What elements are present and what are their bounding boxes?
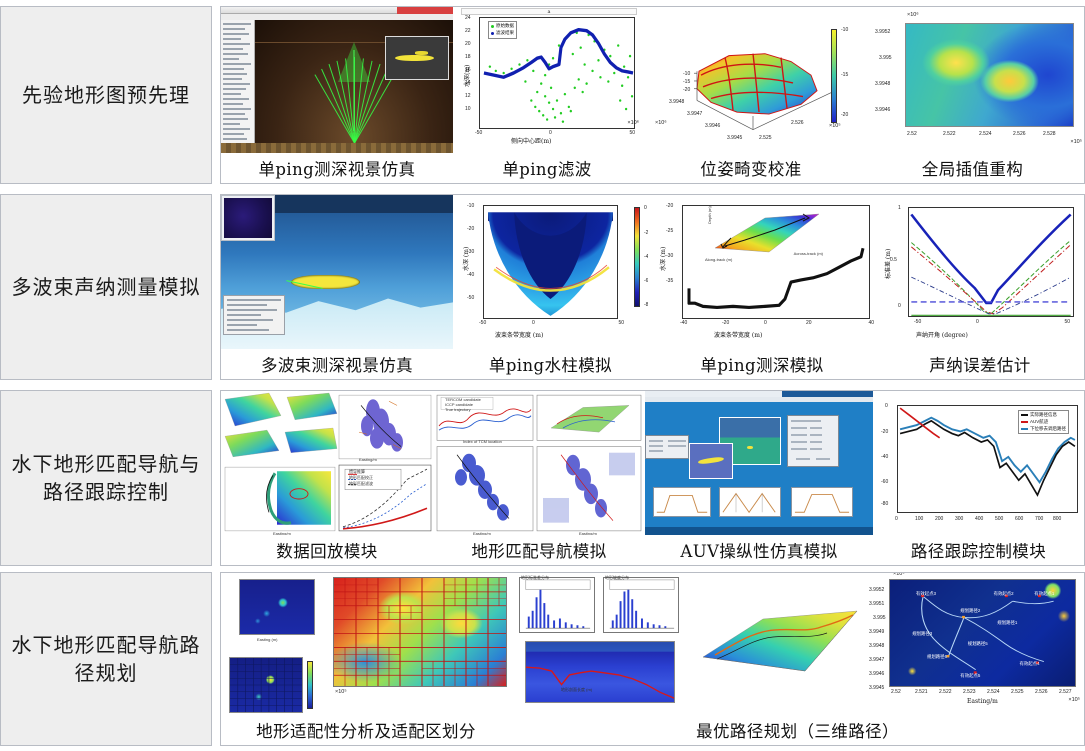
ytick: 3.9948 [875, 81, 890, 87]
plot-axes [908, 207, 1074, 317]
ytick: 10 [465, 106, 471, 112]
plot-axes: 原始数据 滤波结果 [479, 17, 635, 129]
legend-swatch-actual [1021, 414, 1028, 416]
sonarerror-plot: 1 0.5 0 -50 0 50 标准差 (m) 声纳开角 (degree) [876, 195, 1084, 349]
xtick: 200 [935, 516, 943, 522]
grid-colorbar [307, 661, 313, 709]
filter-legend: 原始数据 滤波结果 [488, 21, 517, 39]
ytick: -20 [666, 203, 673, 209]
pathplan-composite: 地形标准差分布 地形坡度分布 地形剖面长度 (m) [511, 573, 1084, 715]
x-exponent: ×10⁵ [1070, 139, 1082, 145]
terrain-profile-section [525, 641, 675, 703]
wp-ytick: 3.9947 [869, 657, 884, 663]
auv-body [395, 55, 435, 61]
panel-strip: -10 -20 -30 -40 -50 -50 0 50 水深 (m) 波束条带… [221, 195, 1084, 349]
caption-data-replay: 数据回放模块 [221, 538, 433, 562]
x-axis-label: 侧向中心距(m) [511, 136, 551, 145]
xtick: 20 [806, 320, 812, 326]
watercolumn-colorbar: 0 -20 -40 -60 -80 [634, 207, 640, 307]
xtick: 0 [764, 320, 767, 326]
profile-xlabel: 地形剖面长度 (m) [561, 687, 592, 693]
row-prior-terrain: 先验地形图预先理 [0, 6, 1085, 184]
xtick: 50 [618, 320, 624, 326]
auv-fin [415, 51, 429, 54]
x-axis-label: 声纳开角 (degree) [916, 330, 968, 339]
suitability-map-small [239, 579, 315, 635]
row-path-planning: 水下地形匹配导航路径规划 Easting (m) [0, 572, 1085, 746]
panel-auv-maneuver-sim[interactable] [645, 391, 873, 535]
inset-zlabel: Depth (m) [707, 206, 712, 224]
cbar-tick: -10 [841, 27, 848, 33]
xtick: 40 [868, 320, 874, 326]
cbar-tick: 0 [644, 205, 647, 211]
xtick: 2.52 [907, 131, 917, 137]
auv-inset-view[interactable] [385, 36, 449, 80]
wpmap-xlabel: Easting/m [967, 698, 998, 705]
bar-chart-std [519, 577, 595, 633]
bathymetry-thumbnail-panel[interactable] [221, 195, 275, 241]
caption-water-column: 单ping水柱模拟 [453, 352, 648, 376]
legend-swatch-filtered [491, 32, 494, 35]
ytick: 1 [898, 205, 901, 211]
row-content-matching-nav: Easting/m Easting/m 惯导推算 地形匹配校正 地形匹配滤波 [220, 390, 1085, 566]
caption-sonar-error: 声纳误差估计 [876, 352, 1084, 376]
y-axis-label: 水深 (m) [658, 247, 667, 271]
bar-chart-slope [603, 577, 679, 633]
legend-label-auv: AUV航迹 [1030, 419, 1048, 426]
xtick: 2.522 [943, 131, 956, 137]
replay-composite: Easting/m Easting/m 惯导推算 地形匹配校正 地形匹配滤波 [221, 391, 433, 535]
segment-label-3: 规划路径3 [912, 631, 932, 637]
ytick: -35 [666, 278, 673, 284]
ytick: 24 [465, 15, 471, 21]
xtick: 3.9946 [705, 123, 720, 129]
navsim-mid-xlabel: Index of TCM location [463, 439, 502, 444]
xtick: 50 [629, 130, 635, 136]
waypoint-label-4: 有效起点4 [1020, 661, 1040, 667]
waypoint-label-3: 有效起点3 [916, 591, 936, 597]
wpmap-x-exponent: ×10⁵ [1068, 697, 1080, 703]
x-axis-label: 波束条带宽度 (m) [495, 330, 543, 339]
xtick: -20 [722, 320, 729, 326]
replay-xlabel: Easting/m [273, 531, 291, 535]
auv-body [697, 456, 724, 465]
caption-strip-row4: 地形适配性分析及适配区划分 最优路径规划（三维路径） [221, 715, 1084, 745]
panel-sonar-error[interactable]: 1 0.5 0 -50 0 50 标准差 (m) 声纳开角 (degree) [876, 195, 1084, 349]
xtick: -50 [475, 130, 482, 136]
wp-xtick: 2.523 [963, 689, 976, 695]
xtick: -50 [479, 320, 486, 326]
caption-pose-calib: 位姿畸变校准 [641, 156, 861, 180]
xtick: 2.524 [979, 131, 992, 137]
input-panel-left[interactable] [645, 435, 689, 459]
toolbar[interactable] [645, 397, 873, 402]
mosaic-x-exponent: ×10⁵ [335, 689, 347, 695]
suitability-mosaic [333, 577, 507, 687]
wp-ytick: 3.995 [873, 615, 886, 621]
bathymetry-thumbnail [224, 198, 272, 238]
panel-single-ping-scene[interactable] [221, 7, 453, 153]
suitability-composite: Easting (m) [221, 573, 511, 715]
row-label-text: 先验地形图预先理 [22, 81, 190, 109]
wp-xtick: 2.525 [1011, 689, 1024, 695]
ytick: 3.995 [879, 55, 892, 61]
segment-label-1: 规划路径1 [997, 620, 1017, 626]
ytick: -30 [666, 253, 673, 259]
panel-pose-distortion-calib[interactable]: -10 -15 -20 3.9948 3.9947 3.9946 3.9945 … [641, 7, 861, 153]
waypoint-map: 有效起点3 有效起点2 有效起点1 有效起点4 有效起点5 规划路径2 规划路径… [889, 579, 1076, 687]
y-axis-label: 标准差 (m) [883, 249, 892, 279]
xtick: 600 [1015, 516, 1023, 522]
ytick: -10 [467, 203, 474, 209]
x-exponent: ×10⁶ [627, 120, 639, 126]
signal-chart-1 [653, 487, 711, 517]
caption-global-interp: 全局插值重构 [861, 156, 1084, 180]
recording-indicator [397, 7, 453, 14]
parameter-list-panel[interactable] [221, 20, 255, 143]
xtick: -50 [914, 319, 921, 325]
panel-strip: a [221, 7, 1084, 153]
settings-dialog[interactable] [223, 295, 285, 335]
ytick: 2.525 [759, 135, 772, 141]
waypoint-label-1: 有效起点1 [1034, 591, 1054, 597]
panel-path-tracking[interactable]: 实际路径信息 AUV航迹 下位移去调后路径 0 -20 -40 -60 -80 … [873, 391, 1084, 535]
wp-xtick: 2.527 [1059, 689, 1072, 695]
navsim-svg [433, 391, 645, 535]
signal-svg-3 [792, 488, 852, 516]
xtick: 500 [995, 516, 1003, 522]
tracking-legend: 实际路径信息 AUV航迹 下位移去调后路径 [1018, 410, 1069, 434]
tracking-plot: 实际路径信息 AUV航迹 下位移去调后路径 0 -20 -40 -60 -80 … [873, 391, 1084, 535]
inset-xlabel: Across-track (m) [794, 251, 823, 256]
waypoint-label-5: 有效起点5 [960, 673, 980, 679]
y-axis-label: 水深(m) [462, 65, 471, 87]
ytick: -40 [467, 272, 474, 278]
wp-ytick: 3.9948 [869, 643, 884, 649]
legend-swatch-auv [1021, 421, 1028, 423]
caption-strip-row3: 数据回放模块 地形匹配导航模拟 AUV操纵性仿真模拟 路径跟踪控制模块 [221, 535, 1084, 565]
xtick: 700 [1035, 516, 1043, 522]
panel-suitability-analysis[interactable]: Easting (m) [221, 573, 511, 715]
wp-ytick: 3.9951 [869, 601, 884, 607]
y-axis-label: 水深 (m) [461, 247, 470, 271]
row-label-path-planning: 水下地形匹配导航路径规划 [0, 572, 212, 746]
bar-svg-slope [604, 578, 678, 632]
panel-single-ping-depth[interactable]: Along-track (m) Across-track (m) Depth (… [648, 195, 876, 349]
auv-body [291, 275, 361, 289]
caption-auv-maneuver-sim: AUV操纵性仿真模拟 [645, 538, 873, 562]
mosaic-grid [334, 578, 506, 686]
ztick: -20 [683, 87, 690, 93]
caption-single-ping-filter: 单ping滤波 [453, 156, 641, 180]
panel-single-ping-filter[interactable]: a [453, 7, 641, 153]
row-label-prior-terrain: 先验地形图预先理 [0, 6, 212, 184]
swath-3d-inset: Along-track (m) Across-track (m) Depth (… [705, 208, 825, 260]
ytick: 0 [898, 303, 901, 309]
cbar-tick: -15 [841, 72, 848, 78]
segment-label-6: 规划路径6 [927, 654, 947, 660]
row-label-matching-nav: 水下地形匹配导航与路径跟踪控制 [0, 390, 212, 566]
figure-root: 先验地形图预先理 [0, 0, 1085, 751]
xtick: 3.9948 [669, 99, 684, 105]
ytick: 0 [885, 403, 888, 409]
ytick: 12 [465, 93, 471, 99]
xtick: 300 [955, 516, 963, 522]
depthprofile-plot: Along-track (m) Across-track (m) Depth (… [648, 195, 876, 349]
row-label-text: 水下地形匹配导航路径规划 [11, 631, 201, 688]
ztick: -15 [683, 79, 690, 85]
bar-title-std: 地形标准差分布 [521, 575, 549, 581]
ytick: -40 [881, 454, 888, 460]
legend-label-filtered: 滤波结果 [496, 30, 514, 37]
row-multibeam: 多波束声纳测量模拟 [0, 194, 1085, 380]
signal-svg-2 [720, 488, 780, 516]
suitability-grid-coarse [229, 657, 303, 713]
panel-strip: Easting/m Easting/m 惯导推算 地形匹配校正 地形匹配滤波 [221, 391, 1084, 535]
plot-title: a [461, 8, 637, 15]
ytick: 3.9952 [875, 29, 890, 35]
signal-chart-2 [719, 487, 781, 517]
xtick: 3.9945 [727, 135, 742, 141]
rmse-legend-2: 地形匹配滤波 [349, 481, 373, 487]
ztick: -10 [683, 71, 690, 77]
auv-simulator-window[interactable] [645, 391, 873, 535]
wp-xtick: 2.521 [915, 689, 928, 695]
ytick: -25 [666, 228, 673, 234]
wp-xtick: 2.526 [1035, 689, 1048, 695]
seafloor-strip [221, 143, 453, 153]
terrain-3d-path [687, 583, 869, 703]
xtick: 0 [532, 320, 535, 326]
legend-swatch-corrected [1021, 428, 1028, 430]
xtick: -40 [680, 320, 687, 326]
navsim-xlabel: Easting/m [473, 531, 491, 535]
surface-colorbar: -10 -15 -20 [831, 29, 837, 123]
multibeam-scene-view[interactable] [221, 195, 453, 349]
filter-plot: a [453, 7, 641, 153]
plot-axes: 实际路径信息 AUV航迹 下位移去调后路径 [897, 405, 1078, 513]
wp-xtick: 2.522 [939, 689, 952, 695]
error-svg [909, 208, 1073, 316]
wp-ytick: 3.9946 [869, 671, 884, 677]
row-label-text: 水下地形匹配导航与路径跟踪控制 [11, 450, 201, 507]
panel-multibeam-scene[interactable] [221, 195, 453, 349]
caption-matching-nav-sim: 地形匹配导航模拟 [433, 538, 645, 562]
terrain-3d-svg [687, 583, 869, 703]
simulation-window [221, 7, 453, 153]
interp-plot: ×10⁶ 3.9952 3.995 3.9948 3.9946 2.52 2.5… [861, 7, 1084, 153]
segment-label-2: 规划路径2 [960, 608, 980, 614]
bar-title-slope: 地形坡度分布 [605, 575, 629, 581]
replay-svg [221, 391, 433, 535]
xtick: 0 [976, 319, 979, 325]
panel-strip: Easting (m) [221, 573, 1084, 715]
ytick: -60 [881, 479, 888, 485]
caption-single-ping-scene: 单ping测深视景仿真 [221, 156, 453, 180]
row-matching-nav: 水下地形匹配导航与路径跟踪控制 [0, 390, 1085, 566]
auv-marker [747, 446, 753, 450]
xtick: 2.528 [1043, 131, 1056, 137]
cbar-tick: -20 [841, 112, 848, 118]
signal-svg-1 [654, 488, 710, 516]
wp-xtick: 2.52 [891, 689, 901, 695]
caption-optimal-path: 最优路径规划（三维路径） [511, 718, 1084, 742]
ytick: 22 [465, 28, 471, 34]
plot-axes [483, 205, 618, 319]
ytick: 3.9946 [875, 107, 890, 113]
x-axis-label: 波束条带宽度 (m) [714, 330, 762, 339]
watercolumn-svg [484, 206, 617, 318]
wp-ytick: 3.9949 [869, 629, 884, 635]
profile-svg [526, 642, 674, 702]
y-exponent: ×10⁶ [907, 12, 919, 18]
watercolumn-plot: -10 -20 -30 -40 -50 -50 0 50 水深 (m) 波束条带… [453, 195, 648, 349]
navsim-xlabel-2: Easting/m [579, 531, 597, 535]
legend-label-corrected: 下位移去调后路径 [1030, 426, 1066, 433]
taskbar[interactable] [645, 527, 873, 535]
ytick: -50 [467, 295, 474, 301]
segment-label-5: 规划路径5 [968, 641, 988, 647]
panel-matching-nav-sim[interactable]: TERCOM candidate ICCP candidate True tra… [433, 391, 645, 535]
xtick: 0 [895, 516, 898, 522]
x-exponent: ×10⁶ [655, 120, 667, 126]
caption-path-tracking: 路径跟踪控制模块 [873, 538, 1084, 562]
xtick: 100 [915, 516, 923, 522]
bar-svg-std [520, 578, 594, 632]
navsim-legend-2: True trajectory [445, 407, 471, 412]
caption-multibeam-scene: 多波束测深视景仿真 [221, 352, 453, 376]
wp-xtick: 2.524 [987, 689, 1000, 695]
ytick: 2.526 [791, 120, 804, 126]
ytick: 18 [465, 54, 471, 60]
caption-single-ping-depth: 单ping测深模拟 [648, 352, 876, 376]
signal-chart-3 [791, 487, 853, 517]
interpolated-bathymetry [905, 23, 1074, 127]
ytick: 20 [465, 41, 471, 47]
plot-axes: Along-track (m) Across-track (m) Depth (… [682, 205, 870, 319]
xtick: 2.526 [1013, 131, 1026, 137]
xtick: 3.9947 [687, 111, 702, 117]
row-label-multibeam: 多波束声纳测量模拟 [0, 194, 212, 380]
legend-label-raw: 原始数据 [496, 23, 514, 30]
surface3d-plot: -10 -15 -20 3.9948 3.9947 3.9946 3.9945 … [641, 7, 861, 153]
caption-strip-row2: 多波束测深视景仿真 单ping水柱模拟 单ping测深模拟 声纳误差估计 [221, 349, 1084, 379]
legend-swatch-raw [491, 25, 494, 28]
parameter-dialog[interactable] [787, 415, 839, 467]
waypoint-label-2: 有效起点2 [994, 591, 1014, 597]
legend-label-actual: 实际路径信息 [1030, 412, 1057, 419]
auv-model-viewer[interactable] [689, 443, 733, 479]
surface3d-svg [641, 7, 861, 153]
wp-ytick: 3.9952 [869, 587, 884, 593]
caption-strip-row1: 单ping测深视景仿真 单ping滤波 位姿畸变校准 全局插值重构 [221, 153, 1084, 183]
panel-optimal-path[interactable]: 地形标准差分布 地形坡度分布 地形剖面长度 (m) [511, 573, 1084, 715]
grid-lines [230, 658, 302, 712]
inset-ylabel: Along-track (m) [705, 257, 732, 262]
ytick: -80 [881, 501, 888, 507]
xtick: 400 [975, 516, 983, 522]
panel-water-column[interactable]: -10 -20 -30 -40 -50 -50 0 50 水深 (m) 波束条带… [453, 195, 648, 349]
row-label-text: 多波束声纳测量模拟 [12, 273, 201, 301]
viewport-3d[interactable] [255, 20, 453, 143]
ytick: -20 [881, 429, 888, 435]
row-content-multibeam: -10 -20 -30 -40 -50 -50 0 50 水深 (m) 波束条带… [220, 194, 1085, 380]
row-content-prior-terrain: a [220, 6, 1085, 184]
xtick: 50 [1064, 319, 1070, 325]
panel-global-interp-recon[interactable]: ×10⁶ 3.9952 3.995 3.9948 3.9946 2.52 2.5… [861, 7, 1084, 153]
wpmap-y-exponent: ×10⁶ [893, 573, 905, 577]
xtick: 800 [1053, 516, 1061, 522]
small-map-xlabel: Easting (m) [257, 637, 277, 642]
y-exponent: ×10⁵ [829, 123, 841, 129]
ytick: -20 [467, 226, 474, 232]
replay-scatter-xlabel: Easting/m [359, 457, 377, 462]
panel-data-replay[interactable]: Easting/m Easting/m 惯导推算 地形匹配校正 地形匹配滤波 [221, 391, 433, 535]
navsim-composite: TERCOM candidate ICCP candidate True tra… [433, 391, 645, 535]
wp-ytick: 3.9945 [869, 685, 884, 691]
row-content-path-planning: Easting (m) [220, 572, 1085, 746]
caption-suitability-analysis: 地形适配性分析及适配区划分 [221, 718, 511, 742]
